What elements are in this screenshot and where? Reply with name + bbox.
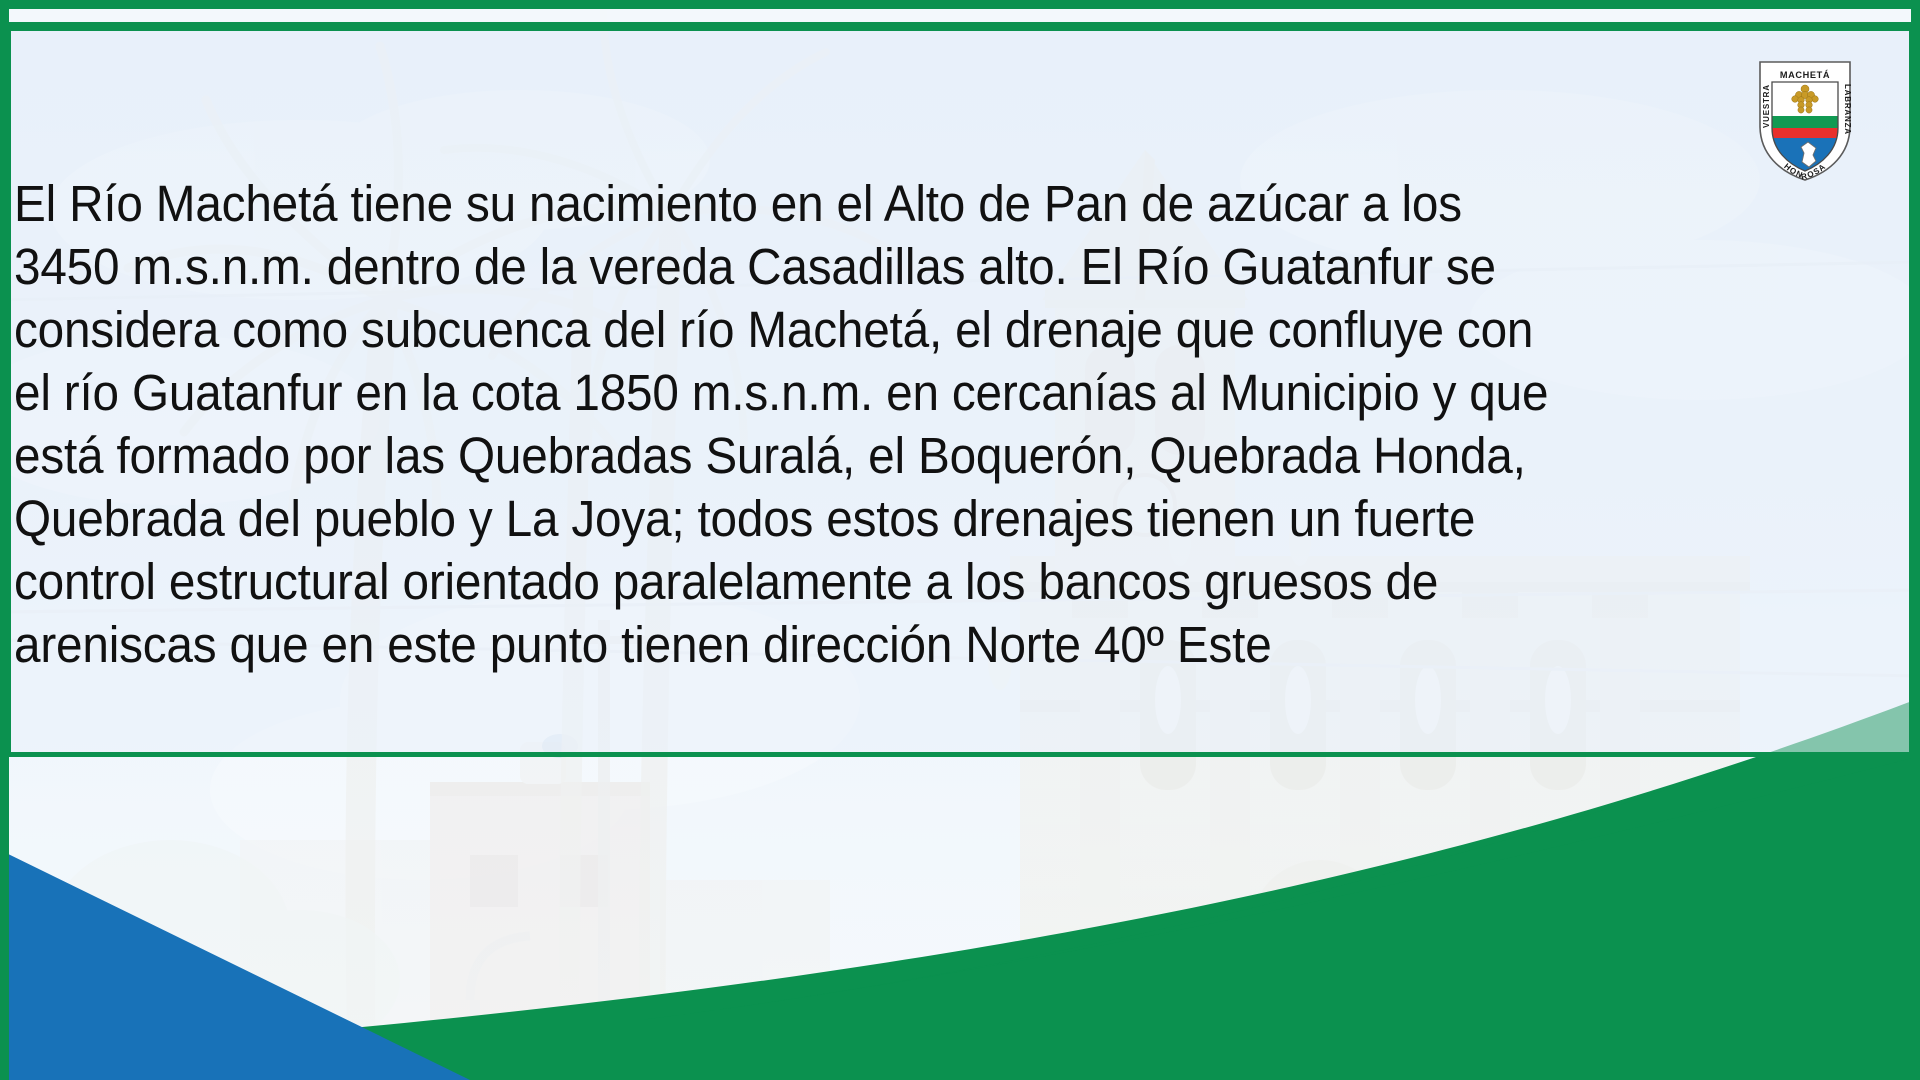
paragraph-text: El Río Machetá tiene su nacimiento en el… bbox=[14, 172, 1768, 676]
frame-left-bar bbox=[0, 0, 9, 1080]
crest-left-text: VUESTRA bbox=[1762, 84, 1771, 128]
frame-right-bar bbox=[1911, 0, 1920, 1080]
svg-text:MACHETÁ: MACHETÁ bbox=[1780, 69, 1830, 80]
crest-right-text: LABRANZA bbox=[1843, 84, 1852, 135]
slide-canvas: MACHETÁ HONROSA VUESTRA LABRANZA El Río … bbox=[0, 0, 1920, 1080]
frame-inner-top-rule bbox=[9, 22, 1911, 28]
decorative-ribbons bbox=[0, 660, 1920, 1080]
frame-top-gap bbox=[9, 9, 1911, 22]
crest-top-text: MACHETÁ bbox=[1780, 69, 1830, 80]
coat-of-arms-icon: MACHETÁ HONROSA VUESTRA LABRANZA bbox=[1746, 54, 1864, 182]
blue-wedge bbox=[0, 850, 470, 1080]
